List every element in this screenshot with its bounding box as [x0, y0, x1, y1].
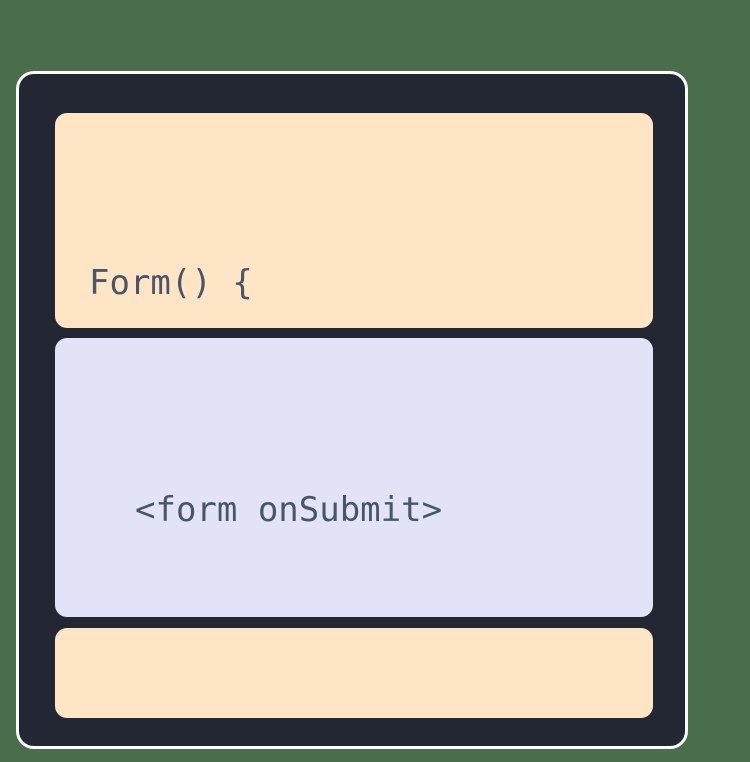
code-line: <form onSubmit> — [135, 481, 633, 539]
code-line: Form() { — [89, 254, 633, 312]
code-block-component-close: } — [55, 628, 653, 718]
code-block-form-markup: <form onSubmit> <input onClick /> <input… — [55, 338, 653, 617]
code-block-group: Form() { onClick() {...} onSubmit() {...… — [55, 113, 653, 718]
slide-canvas: Form() { onClick() {...} onSubmit() {...… — [0, 0, 750, 762]
code-card: Form() { onClick() {...} onSubmit() {...… — [16, 71, 688, 749]
code-block-component-declaration: Form() { onClick() {...} onSubmit() {...… — [55, 113, 653, 328]
